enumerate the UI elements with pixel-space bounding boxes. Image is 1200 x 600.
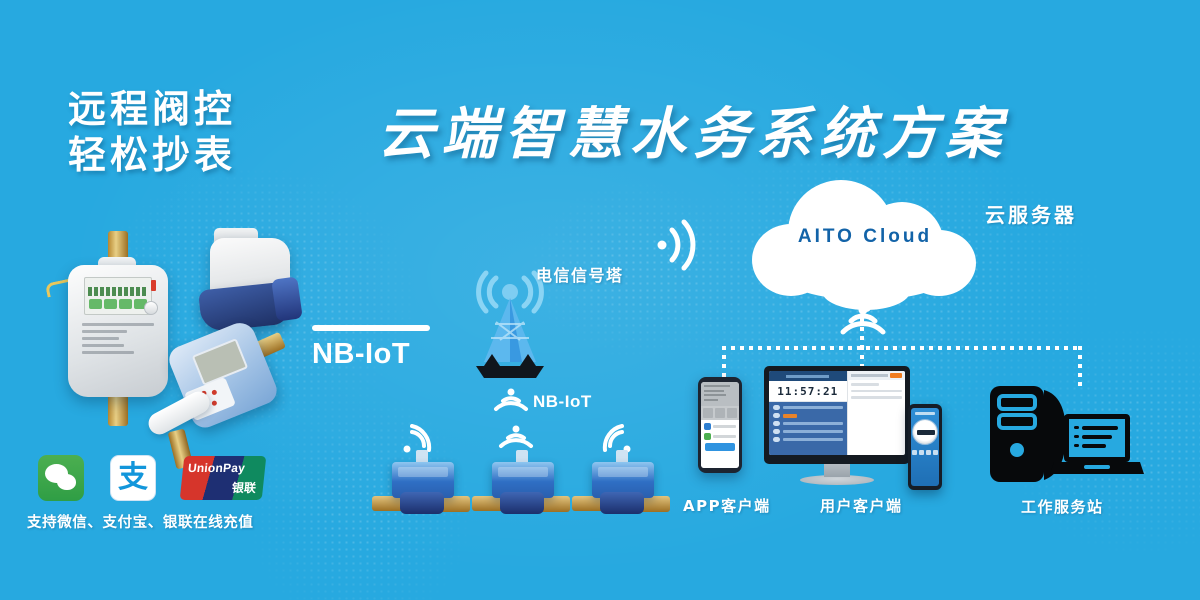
meter-app-title	[915, 412, 935, 415]
wifi-signal-icon	[492, 386, 530, 416]
dashboard-content	[848, 380, 905, 455]
unionpay-glyph: UnionPay	[187, 461, 261, 475]
smart-water-meter	[372, 462, 468, 524]
meter-button[interactable]	[144, 301, 158, 315]
monitor-screen: 11:57:21	[769, 371, 905, 455]
meter-spec-text	[82, 323, 154, 358]
client-label-user: 用户客户端	[820, 495, 903, 516]
cloud-label: AITO Cloud	[772, 226, 958, 248]
client-label-workstation: 工作服务站	[1021, 496, 1104, 517]
app-confirm-button[interactable]	[705, 443, 735, 451]
wechat-icon[interactable]	[38, 455, 84, 501]
unionpay-icon[interactable]: UnionPay 银联	[180, 456, 267, 500]
connector-line-vertical	[1078, 346, 1082, 388]
cloud-server-label: 云服务器	[985, 199, 1077, 228]
mobile-phone-icon	[698, 377, 742, 473]
cloud-connector-dot	[862, 303, 871, 312]
smart-water-meter	[472, 462, 568, 524]
wechat-glyph	[38, 455, 84, 501]
headline-left-line-1: 远程阀控	[68, 86, 236, 132]
monitor-neck	[824, 462, 850, 477]
wifi-signal-icon	[652, 218, 710, 272]
dashboard-toolbar	[848, 371, 905, 380]
poster-canvas: 远程阀控 轻松抄表 云端智慧水务系统方案	[0, 0, 1200, 600]
alipay-glyph: 支	[111, 456, 155, 500]
meter-lcd-screen	[84, 277, 152, 315]
client-label-app: APP客户端	[683, 495, 771, 516]
meter-app-keys[interactable]	[912, 450, 938, 455]
dashboard-device-list	[769, 402, 847, 455]
connector-line-vertical	[860, 318, 864, 348]
headline-left-line-2: 轻松抄表	[68, 132, 236, 178]
nbiot-primary-label: NB-IoT	[312, 325, 430, 371]
meter-app-dial	[912, 419, 938, 445]
meter-nozzle	[271, 276, 303, 321]
dashboard-action-button[interactable]	[890, 373, 902, 378]
dashboard-right-column	[847, 371, 905, 455]
app-header	[701, 382, 739, 406]
lcd-prepaid-water-meter	[152, 330, 292, 470]
mobile-meter-app-icon	[908, 404, 942, 490]
alipay-icon[interactable]: 支	[110, 455, 156, 501]
smart-water-meter	[572, 462, 668, 524]
dashboard-clock: 11:57:21	[769, 381, 847, 402]
nbiot-secondary-label: NB-IoT	[533, 392, 592, 412]
nbiot-underline	[312, 325, 430, 331]
app-screen	[701, 382, 739, 468]
headline-left: 远程阀控 轻松抄表	[68, 86, 236, 179]
dashboard-left-column: 11:57:21	[769, 371, 847, 455]
app-button-row	[701, 406, 739, 420]
app-payment-list	[701, 420, 739, 468]
meter-lcd-digits	[88, 287, 148, 296]
page-title: 云端智慧水务系统方案	[378, 89, 1008, 170]
connector-line-horizontal	[722, 346, 1082, 350]
meter-app-screen	[911, 408, 939, 486]
dashboard-title-bar	[769, 371, 847, 381]
tower-label: 电信信号塔	[536, 262, 624, 286]
monitor-frame: 11:57:21	[764, 366, 910, 464]
payment-caption: 支持微信、支付宝、银联在线充值	[27, 511, 254, 532]
wifi-signal-icon	[496, 420, 536, 452]
desktop-monitor-icon: 11:57:21	[764, 366, 910, 490]
meter-status-led	[151, 280, 156, 291]
unionpay-glyph-cn: 银联	[231, 479, 257, 496]
meter-lcd-icons	[89, 299, 147, 309]
server-and-laptop-icon	[988, 384, 1144, 488]
